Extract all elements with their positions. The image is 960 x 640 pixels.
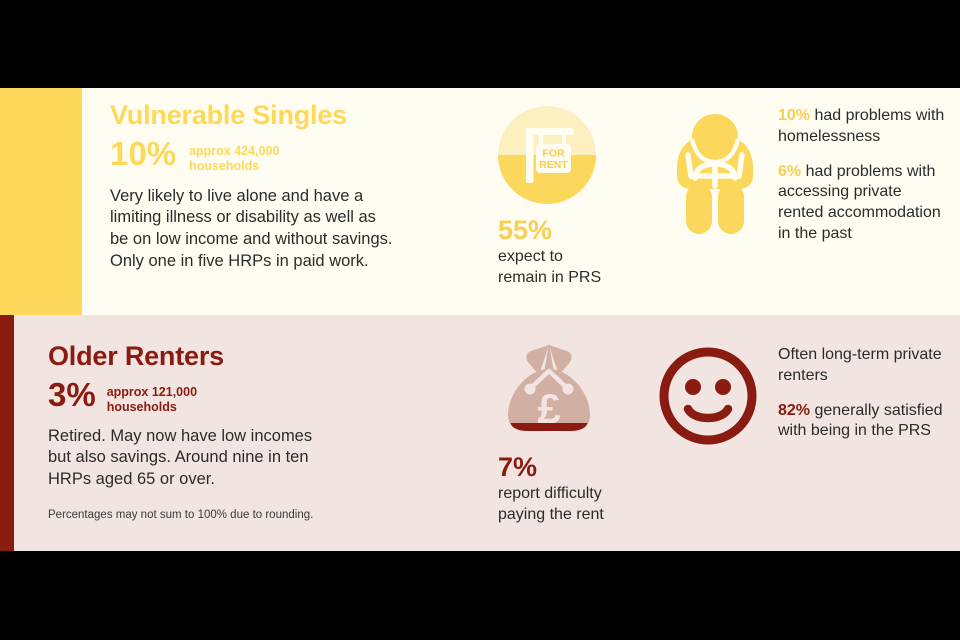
singles-rent-stat-block: FOR RENT 55% expect to remain in PRS bbox=[480, 106, 650, 288]
older-money-stat-number: 7% bbox=[498, 453, 650, 481]
older-bullet-2-key: 82% bbox=[778, 402, 810, 419]
older-figure-block bbox=[655, 343, 785, 449]
for-rent-sign-icon: FOR RENT bbox=[498, 106, 596, 204]
singles-rent-caption-line2: remain in PRS bbox=[498, 268, 650, 288]
segment-panel-vulnerable-singles: Vulnerable Singles 10% approx 424,000 ho… bbox=[0, 88, 960, 315]
older-text-column: Older Renters 3% approx 121,000 househol… bbox=[48, 341, 378, 521]
singles-text-column: Vulnerable Singles 10% approx 424,000 ho… bbox=[110, 100, 410, 273]
infographic-canvas: Vulnerable Singles 10% approx 424,000 ho… bbox=[0, 0, 960, 640]
rounding-footnote: Percentages may not sum to 100% due to r… bbox=[48, 509, 378, 521]
segment-title-vulnerable-singles: Vulnerable Singles bbox=[110, 100, 410, 131]
older-households: approx 121,000 households bbox=[107, 379, 197, 415]
older-households-line1: approx 121,000 bbox=[107, 385, 197, 400]
singles-rent-caption-line1: expect to bbox=[498, 247, 650, 267]
older-description: Retired. May now have low incomes but al… bbox=[48, 426, 338, 492]
singles-bullet-1: 10% had problems with homelessness bbox=[778, 106, 950, 148]
person-sitting-head-down-icon bbox=[655, 106, 785, 234]
singles-percent: 10% bbox=[110, 138, 176, 169]
older-money-stat-caption: report difficulty paying the rent bbox=[498, 484, 650, 525]
singles-bullet-1-key: 10% bbox=[778, 107, 810, 124]
singles-bullet-2-key: 6% bbox=[778, 163, 801, 180]
older-bullets: Often long-term private renters 82% gene… bbox=[778, 345, 950, 442]
older-money-caption-line2: paying the rent bbox=[498, 505, 650, 525]
older-money-stat-block: £ 7% report difficulty paying the rent bbox=[480, 335, 650, 525]
singles-percent-row: 10% approx 424,000 households bbox=[110, 138, 410, 174]
older-bullet-1-text: Often long-term private renters bbox=[778, 346, 942, 384]
singles-bullet-2: 6% had problems with accessing private r… bbox=[778, 162, 950, 245]
singles-bullets: 10% had problems with homelessness 6% ha… bbox=[778, 106, 950, 245]
singles-households-line1: approx 424,000 bbox=[189, 144, 279, 159]
older-households-line2: households bbox=[107, 400, 197, 415]
singles-bullet-2-text: had problems with accessing private rent… bbox=[778, 163, 941, 242]
older-bullet-1: Often long-term private renters bbox=[778, 345, 950, 387]
accent-bar-yellow bbox=[0, 88, 82, 315]
singles-rent-stat-text: 55% expect to remain in PRS bbox=[498, 216, 650, 288]
segment-panel-older-renters: Older Renters 3% approx 121,000 househol… bbox=[0, 315, 960, 551]
older-money-stat-text: 7% report difficulty paying the rent bbox=[498, 453, 650, 525]
singles-description: Very likely to live alone and have a lim… bbox=[110, 186, 395, 274]
singles-households-line2: households bbox=[189, 159, 279, 174]
singles-rent-stat-number: 55% bbox=[498, 216, 650, 244]
for-rent-label-line1: FOR bbox=[542, 148, 565, 160]
older-money-caption-line1: report difficulty bbox=[498, 484, 650, 504]
money-bag-pound-icon: £ bbox=[498, 335, 650, 443]
accent-bar-dark-red bbox=[0, 315, 14, 551]
singles-rent-stat-caption: expect to remain in PRS bbox=[498, 247, 650, 288]
older-percent: 3% bbox=[48, 379, 96, 410]
for-rent-label-line2: RENT bbox=[539, 159, 568, 171]
older-percent-row: 3% approx 121,000 households bbox=[48, 379, 378, 415]
smiley-face-icon bbox=[655, 343, 785, 449]
segment-title-older-renters: Older Renters bbox=[48, 341, 378, 372]
older-bullet-2: 82% generally satisfied with being in th… bbox=[778, 401, 950, 443]
singles-figure-block bbox=[655, 106, 785, 234]
singles-households: approx 424,000 households bbox=[189, 138, 279, 174]
